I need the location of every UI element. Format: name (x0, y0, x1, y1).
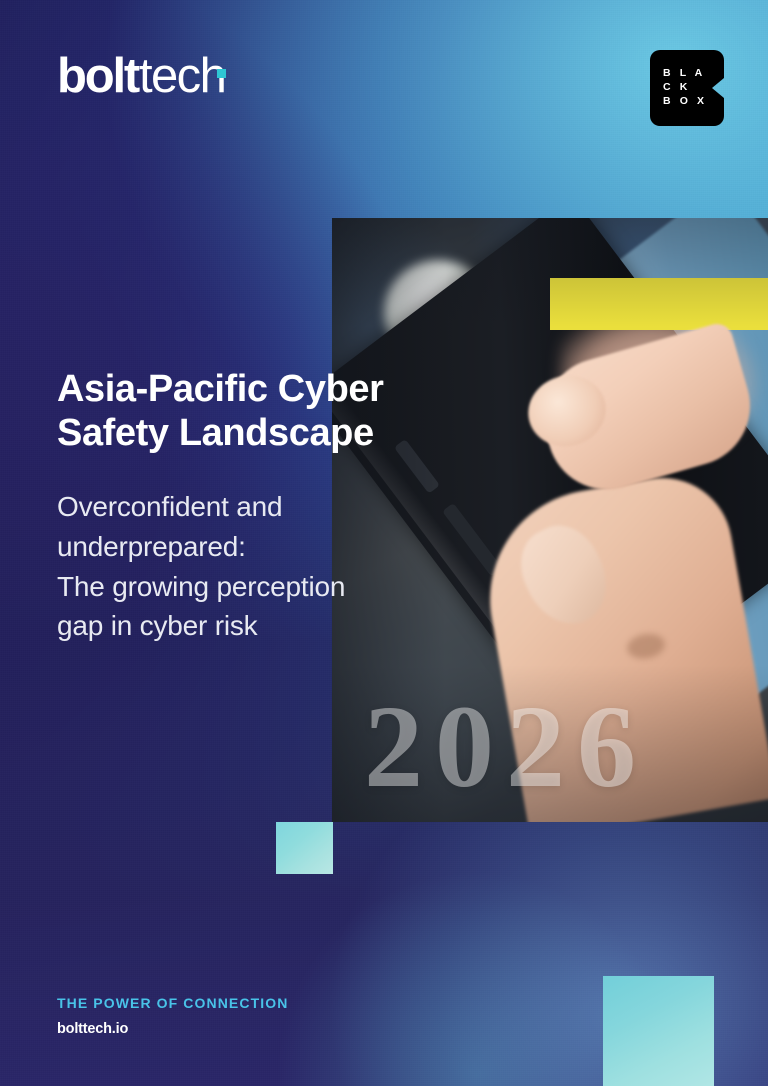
headline-block: Asia-Pacific Cyber Safety Landscape Over… (57, 367, 437, 646)
footer-tagline: THE POWER OF CONNECTION (57, 995, 288, 1012)
page-subtitle-line-1: Overconfident and (57, 487, 437, 527)
accent-square-large (603, 976, 714, 1086)
bolttech-logo[interactable]: bolt tech (57, 52, 225, 101)
page-title-line-1: Asia-Pacific Cyber (57, 367, 437, 411)
footer-url[interactable]: bolttech.io (57, 1021, 288, 1038)
footer: THE POWER OF CONNECTION bolttech.io (57, 995, 288, 1038)
bolttech-logo-light: tech (139, 52, 225, 101)
accent-square-small (276, 822, 333, 874)
page-subtitle-line-2: underprepared: (57, 527, 437, 567)
page-title: Asia-Pacific Cyber Safety Landscape (57, 367, 437, 455)
blackbox-logo-letters: B L A C K B O X (650, 50, 724, 126)
page-title-line-2: Safety Landscape (57, 411, 437, 455)
blackbox-line-1: B L A (663, 68, 724, 80)
page-subtitle-line-4: gap in cyber risk (57, 606, 437, 646)
blackbox-line-3: B O X (663, 96, 724, 108)
blackbox-logo[interactable]: B L A C K B O X (650, 50, 724, 126)
year-overlay: 2026 (364, 688, 648, 806)
report-cover: bolt tech B L A C K B O X (0, 0, 768, 1086)
page-subtitle-line-3: The growing perception (57, 567, 437, 607)
bolttech-logo-accent-square (217, 69, 226, 78)
bolttech-logo-bold: bolt (57, 52, 138, 101)
blackbox-line-2: C K (663, 82, 724, 94)
page-subtitle: Overconfident and underprepared: The gro… (57, 487, 437, 646)
